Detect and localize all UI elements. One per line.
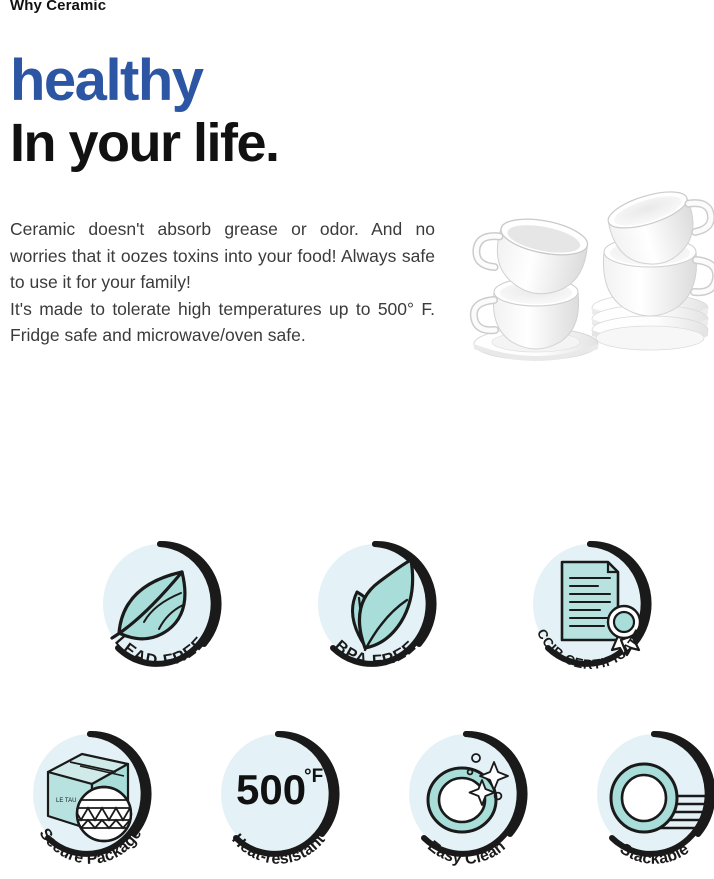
badge-lead-free: LEAD FREE <box>88 538 233 685</box>
badge-stackable: Stackable <box>582 728 714 875</box>
badge-easy-clean: Easy Clean <box>394 728 539 875</box>
badge-ccib-certificate: CCIB CERTIFICATE <box>518 538 663 685</box>
body-paragraph-2: It's made to tolerate high temperatures … <box>10 296 435 349</box>
why-ceramic-page: Why Ceramic healthy In your life. Cerami… <box>0 0 714 879</box>
badge-row-secondary: LE TAU Secure Package <box>0 728 714 875</box>
hero-headline-block: healthy In your life. <box>10 50 470 172</box>
body-paragraph-1: Ceramic doesn't absorb grease or odor. A… <box>10 216 435 296</box>
headline-main: In your life. <box>10 114 470 172</box>
headline-accent: healthy <box>10 50 470 112</box>
temperature-value: 500 <box>236 766 306 813</box>
badge-secure-package: LE TAU Secure Package <box>18 728 163 875</box>
box-label: LE TAU <box>56 798 76 804</box>
badge-row-primary: LEAD FREE BPA FREE <box>0 538 714 685</box>
badge-bpa-free: BPA FREE <box>303 538 448 685</box>
body-copy: Ceramic doesn't absorb grease or odor. A… <box>10 216 435 349</box>
temperature-unit: °F <box>304 766 323 787</box>
badge-heat-resistant: 500 °F Heat-resistant <box>206 728 351 875</box>
page-title: Why Ceramic <box>10 0 106 15</box>
product-image <box>468 188 714 384</box>
